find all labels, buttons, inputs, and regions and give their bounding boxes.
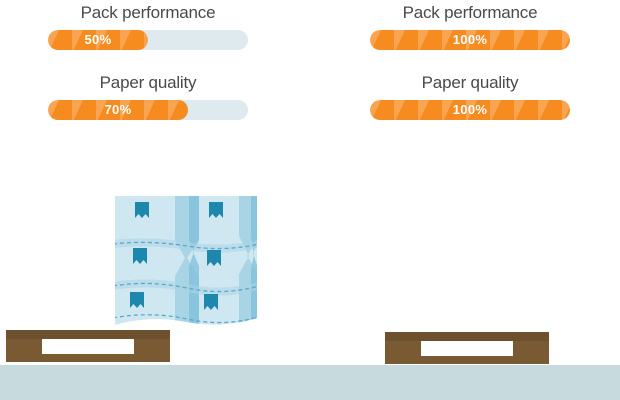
progress-bar-track: 100% [370,100,570,120]
metric-paper-quality-left: Paper quality 70% [8,72,288,120]
pallet-slot [42,339,134,354]
metric-title: Pack performance [330,2,610,24]
progress-bar-value: 100% [370,30,570,50]
good-performance-column: Pack performance 100% Paper quality 100% [330,0,610,400]
progress-bar-track: 50% [48,30,248,50]
progress-bar-track: 100% [370,30,570,50]
metric-title: Pack performance [8,2,288,24]
progress-bar-value: 100% [370,100,570,120]
metric-paper-quality-right: Paper quality 100% [330,72,610,120]
progress-bar-value: 70% [48,100,188,120]
metric-pack-performance-left: Pack performance 50% [8,2,288,50]
metric-title: Paper quality [330,72,610,94]
metric-title: Paper quality [8,72,288,94]
progress-bar-track: 70% [48,100,248,120]
progress-bar-value: 50% [48,30,148,50]
pallet-top-shade [6,330,170,339]
wooden-pallet-left [6,330,170,362]
poor-performance-column: Pack performance 50% Paper quality 70% [8,0,288,400]
wooden-pallet-right [385,332,549,364]
deformed-blue-pallet-stack [113,196,259,336]
metric-pack-performance-right: Pack performance 100% [330,2,610,50]
pallet-slot [421,341,513,356]
pallet-top-shade [385,332,549,341]
infographic-canvas: Pack performance 50% Paper quality 70% [0,0,620,400]
